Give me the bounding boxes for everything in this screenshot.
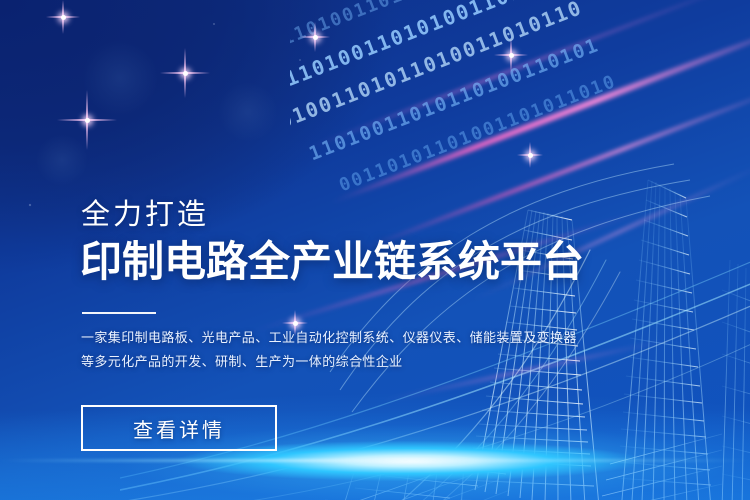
view-details-button[interactable]: 查看详情: [81, 405, 277, 451]
hero-description: 一家集印制电路板、光电产品、工业自动化控制系统、仪器仪表、储能装置及变换器 等多…: [81, 326, 601, 374]
sparkle-star-icon: [46, 0, 80, 34]
sparkle-core: [61, 15, 66, 20]
hero-divider: [82, 312, 156, 314]
hero-banner: 10101101001101011001101 1011010011010100…: [0, 0, 750, 500]
hero-eyebrow: 全力打造: [81, 198, 209, 232]
hero-description-line-1: 一家集印制电路板、光电产品、工业自动化控制系统、仪器仪表、储能装置及变换器: [81, 326, 601, 350]
hero-content: 全力打造 印制电路全产业链系统平台 一家集印制电路板、光电产品、工业自动化控制系…: [81, 0, 701, 500]
hero-headline: 印制电路全产业链系统平台: [80, 236, 584, 288]
hero-description-line-2: 等多元化产品的开发、研制、生产为一体的综合性企业: [81, 350, 601, 374]
